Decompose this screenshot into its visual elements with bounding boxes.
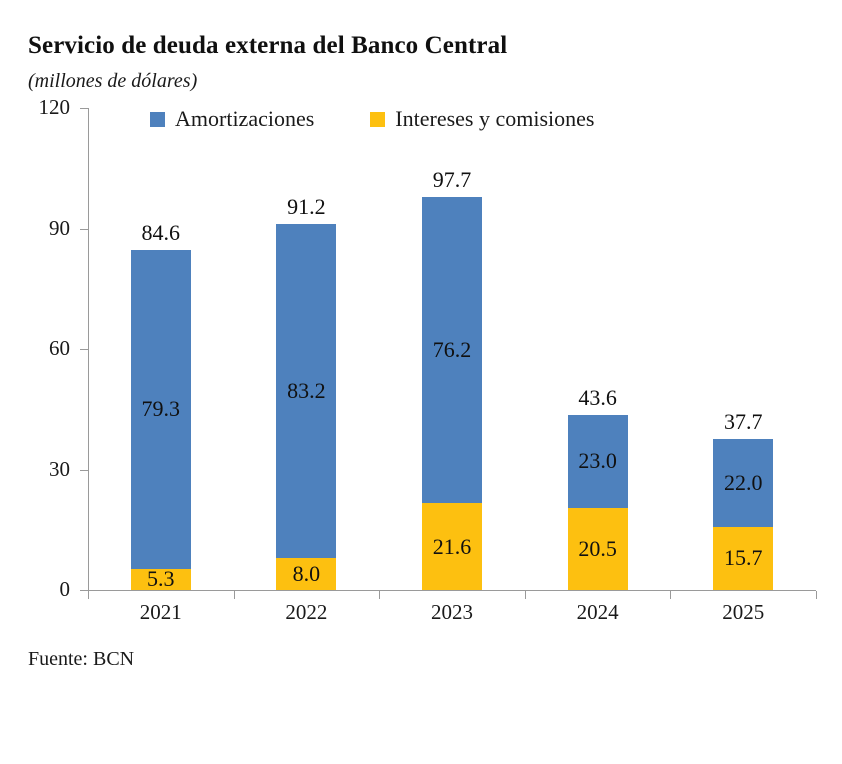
x-axis-tick-label: 2025	[683, 601, 803, 624]
bar-segment-label: 8.0	[293, 563, 321, 585]
x-axis-tick-label: 2022	[246, 601, 366, 624]
bar-segment-label: 15.7	[724, 547, 763, 569]
bar-segment-amortizaciones[interactable]: 83.2	[276, 224, 336, 558]
x-axis-tick	[234, 591, 235, 599]
bar-segment-label: 83.2	[287, 380, 326, 402]
bar-group[interactable]: 8.083.291.2	[276, 108, 336, 590]
x-axis-tick	[670, 591, 671, 599]
y-axis-tick	[80, 108, 88, 109]
bar-segment-label: 79.3	[142, 398, 181, 420]
bar-segment-intereses[interactable]: 15.7	[713, 527, 773, 590]
bar-segment-amortizaciones[interactable]: 76.2	[422, 197, 482, 503]
bar-segment-label: 21.6	[433, 536, 472, 558]
x-axis-tick-label: 2024	[538, 601, 658, 624]
bar-segment-label: 20.5	[578, 538, 617, 560]
x-axis-tick	[88, 591, 89, 599]
bar-total-label: 91.2	[287, 196, 326, 218]
y-axis-tick-label: 0	[2, 579, 70, 600]
bar-segment-label: 76.2	[433, 339, 472, 361]
page-title: Servicio de deuda externa del Banco Cent…	[28, 32, 507, 60]
bar-total-label: 37.7	[724, 411, 763, 433]
bar-total-label: 97.7	[433, 169, 472, 191]
y-axis-tick	[80, 229, 88, 230]
source-note: Fuente: BCN	[28, 648, 134, 671]
bar-segment-amortizaciones[interactable]: 79.3	[131, 250, 191, 569]
y-axis-tick-label: 120	[2, 97, 70, 118]
bar-segment-intereses[interactable]: 21.6	[422, 503, 482, 590]
bar-total-label: 84.6	[142, 222, 181, 244]
bar-segment-amortizaciones[interactable]: 23.0	[568, 415, 628, 507]
bar-group[interactable]: 15.722.037.7	[713, 108, 773, 590]
bar-group[interactable]: 5.379.384.6	[131, 108, 191, 590]
y-axis-tick	[80, 590, 88, 591]
x-axis-tick-label: 2021	[101, 601, 221, 624]
bar-group[interactable]: 20.523.043.6	[568, 108, 628, 590]
bar-segment-intereses[interactable]: 8.0	[276, 558, 336, 590]
x-axis-line	[88, 590, 816, 591]
bar-segment-label: 5.3	[147, 568, 175, 590]
y-axis-tick-label: 60	[2, 338, 70, 359]
bar-total-label: 43.6	[578, 387, 617, 409]
x-axis-tick	[816, 591, 817, 599]
bar-segment-label: 23.0	[578, 450, 617, 472]
bar-segment-amortizaciones[interactable]: 22.0	[713, 439, 773, 527]
y-axis-tick-label: 30	[2, 459, 70, 480]
bar-segment-label: 22.0	[724, 472, 763, 494]
plot-area: 5.379.384.68.083.291.221.676.297.720.523…	[88, 108, 816, 590]
y-axis-tick	[80, 349, 88, 350]
bar-segment-intereses[interactable]: 20.5	[568, 508, 628, 590]
chart-subtitle: (millones de dólares)	[28, 70, 197, 93]
x-axis-tick	[525, 591, 526, 599]
x-axis-tick-label: 2023	[392, 601, 512, 624]
y-axis-tick	[80, 470, 88, 471]
y-axis-tick-label: 90	[2, 218, 70, 239]
x-axis-tick	[379, 591, 380, 599]
bar-segment-intereses[interactable]: 5.3	[131, 569, 191, 590]
bar-group[interactable]: 21.676.297.7	[422, 108, 482, 590]
